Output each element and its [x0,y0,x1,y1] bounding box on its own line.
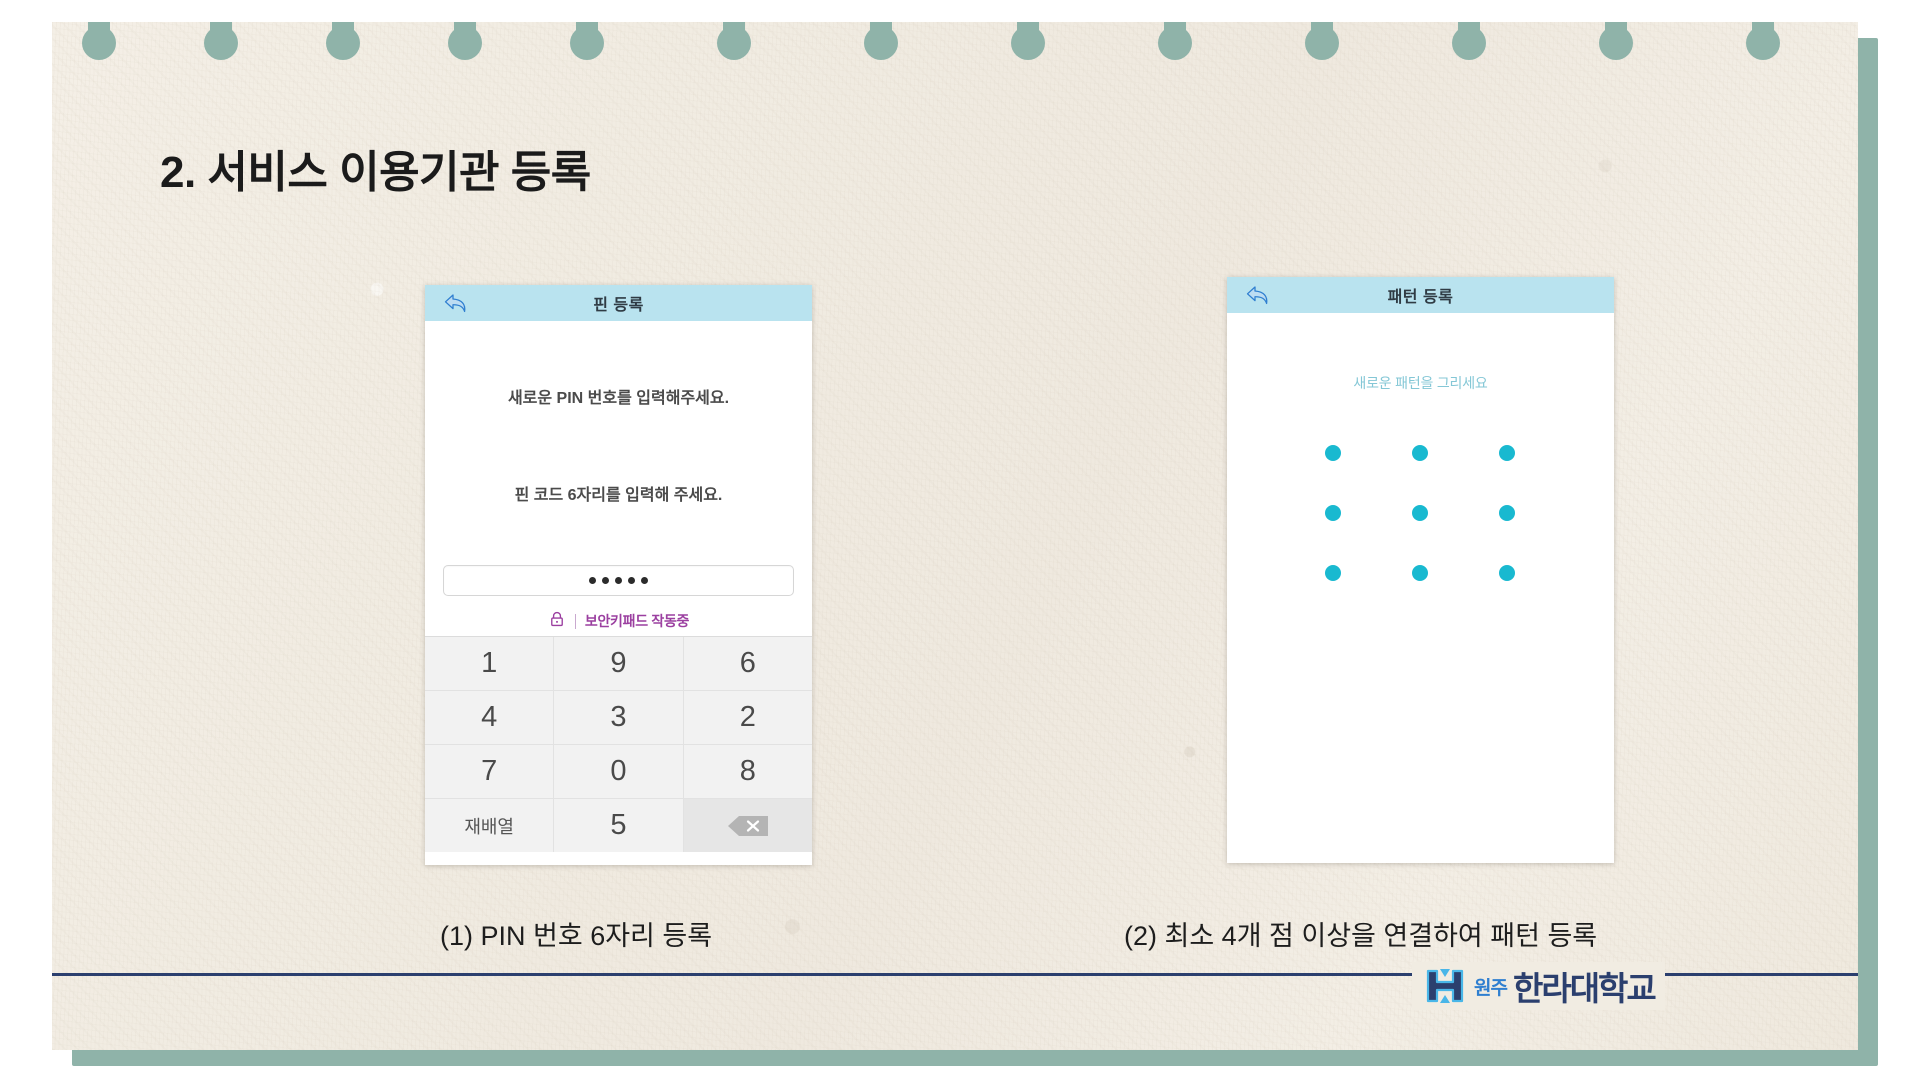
keypad-key-1[interactable]: 1 [425,637,553,690]
keypad-key-9[interactable]: 9 [554,637,682,690]
pattern-dot-4[interactable] [1289,483,1376,543]
pattern-dot-9[interactable] [1464,543,1551,603]
binding-ring [448,22,482,66]
pin-masked-dots [589,577,648,584]
caption-pattern: (2) 최소 4개 점 이상을 연결하여 패턴 등록 [1124,914,1597,953]
binding-ring [1746,22,1780,66]
back-arrow-icon[interactable] [1245,284,1271,306]
pattern-dot-1[interactable] [1289,423,1376,483]
keypad-key-7[interactable]: 7 [425,745,553,798]
binding-ring [717,22,751,66]
pattern-dot-3[interactable] [1464,423,1551,483]
notebook-binding [52,22,1858,84]
secure-keypad-indicator: 보안키패드 작동중 [425,607,812,635]
pin-screen-body: 새로운 PIN 번호를 입력해주세요. 핀 코드 6자리를 입력해 주세요. [425,321,812,865]
keypad-key-3[interactable]: 3 [554,691,682,744]
divider [575,614,576,629]
caption-pin: (1) PIN 번호 6자리 등록 [440,914,712,953]
keypad-shuffle-button[interactable]: 재배열 [425,799,553,852]
lock-icon [548,610,566,633]
binding-ring [1011,22,1045,66]
keypad-key-4[interactable]: 4 [425,691,553,744]
pin-registration-screen: 핀 등록 새로운 PIN 번호를 입력해주세요. 핀 코드 6자리를 입력해 주… [425,285,812,865]
pin-instruction-secondary: 핀 코드 6자리를 입력해 주세요. [425,481,812,505]
pattern-dot-2[interactable] [1376,423,1463,483]
halla-h-logo-icon [1422,963,1468,1009]
pattern-dot-8[interactable] [1376,543,1463,603]
binding-ring [864,22,898,66]
pattern-screen-title: 패턴 등록 [1388,283,1454,307]
keypad-key-8[interactable]: 8 [684,745,812,798]
logo-subtitle: 원주 [1474,973,1507,1000]
slide-board: 2. 서비스 이용기관 등록 핀 등록 새로운 PIN 번호를 입력해주세요. … [52,22,1858,1050]
binding-ring [1158,22,1192,66]
keypad-backspace-button[interactable] [684,799,812,852]
keypad-key-0[interactable]: 0 [554,745,682,798]
binding-ring [326,22,360,66]
pin-input-field[interactable] [443,565,794,596]
back-arrow-icon[interactable] [443,292,469,314]
pattern-prompt-text: 새로운 패턴을 그리세요 [1227,373,1614,393]
slide-canvas: 2. 서비스 이용기관 등록 핀 등록 새로운 PIN 번호를 입력해주세요. … [0,0,1920,1080]
pattern-registration-screen: 패턴 등록 새로운 패턴을 그리세요 [1227,277,1614,863]
pin-screen-header: 핀 등록 [425,285,812,321]
logo-university-name: 한라대학교 [1513,962,1655,1010]
keypad-key-6[interactable]: 6 [684,637,812,690]
binding-ring [204,22,238,66]
backspace-icon [726,813,770,839]
secure-keypad-label: 보안키패드 작동중 [585,611,689,631]
binding-ring [1599,22,1633,66]
keypad-key-2[interactable]: 2 [684,691,812,744]
pattern-dot-7[interactable] [1289,543,1376,603]
pattern-dot-5[interactable] [1376,483,1463,543]
pattern-screen-body: 새로운 패턴을 그리세요 [1227,313,1614,863]
pattern-dot-6[interactable] [1464,483,1551,543]
binding-ring [82,22,116,66]
pattern-screen-header: 패턴 등록 [1227,277,1614,313]
page-title: 2. 서비스 이용기관 등록 [160,136,591,200]
pattern-dot-grid[interactable] [1289,423,1551,603]
numeric-keypad[interactable]: 1 9 6 4 3 2 7 0 8 재배열 5 [425,636,812,852]
university-logo: 원주 한라대학교 [1412,962,1665,1010]
keypad-key-5[interactable]: 5 [554,799,682,852]
pin-instruction-primary: 새로운 PIN 번호를 입력해주세요. [425,384,812,408]
binding-ring [570,22,604,66]
binding-ring [1452,22,1486,66]
pin-screen-title: 핀 등록 [593,291,644,315]
binding-ring [1305,22,1339,66]
